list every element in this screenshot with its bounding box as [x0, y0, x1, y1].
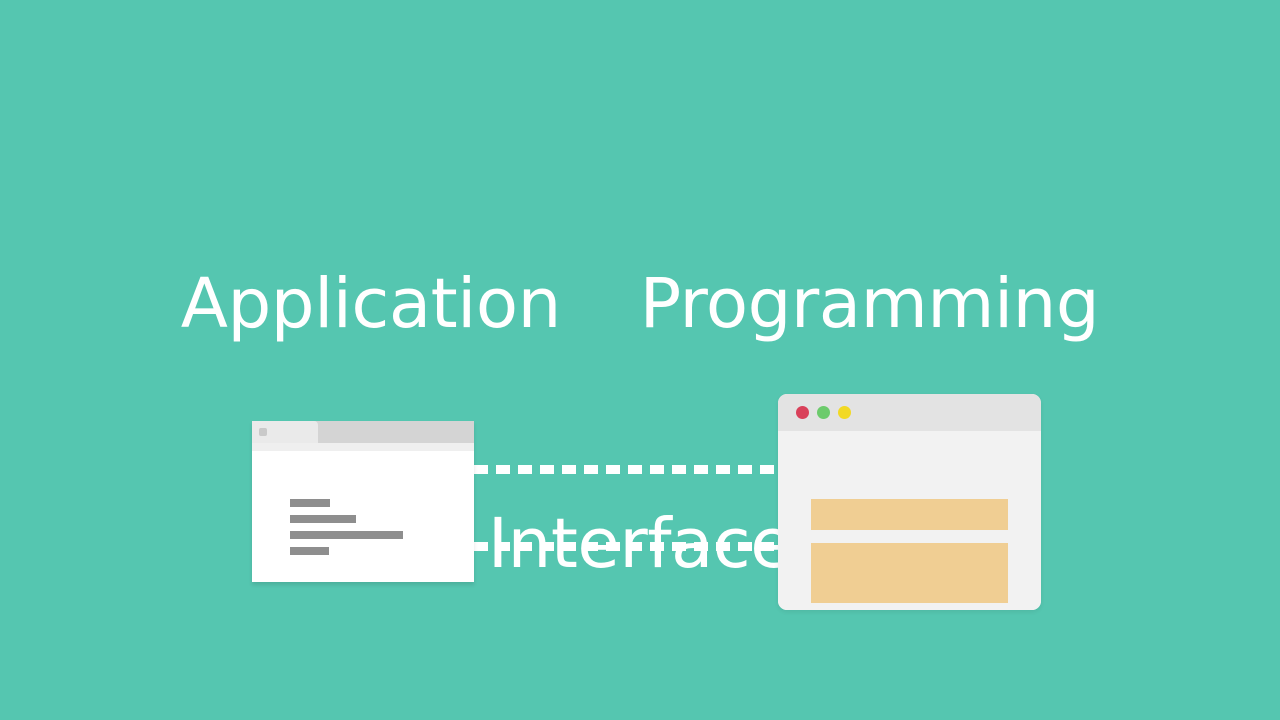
text-line-2 — [290, 515, 356, 523]
document-titlebar — [252, 421, 474, 443]
browser-body — [778, 431, 1041, 610]
minimize-button[interactable] — [817, 406, 830, 419]
text-line-3 — [290, 531, 403, 539]
maximize-button[interactable] — [838, 406, 851, 419]
slide-canvas: Application Programming Interface — [0, 0, 1280, 720]
page-title-line-1: Application Programming — [0, 264, 1280, 344]
text-line-1 — [290, 499, 330, 507]
close-button[interactable] — [796, 406, 809, 419]
content-block-2 — [811, 543, 1008, 603]
window-controls — [796, 406, 851, 419]
client-document-window[interactable] — [252, 421, 474, 582]
favicon-placeholder-icon — [259, 428, 267, 436]
document-body — [252, 451, 474, 582]
api-browser-window[interactable] — [778, 394, 1041, 610]
browser-titlebar — [778, 394, 1041, 431]
content-block-1 — [811, 499, 1008, 530]
page-title: Application Programming Interface — [0, 104, 1280, 720]
document-toolbar — [252, 443, 474, 451]
api-request-line — [474, 465, 790, 474]
document-tab[interactable] — [252, 421, 318, 443]
api-response-line — [474, 542, 790, 551]
text-line-4 — [290, 547, 329, 555]
